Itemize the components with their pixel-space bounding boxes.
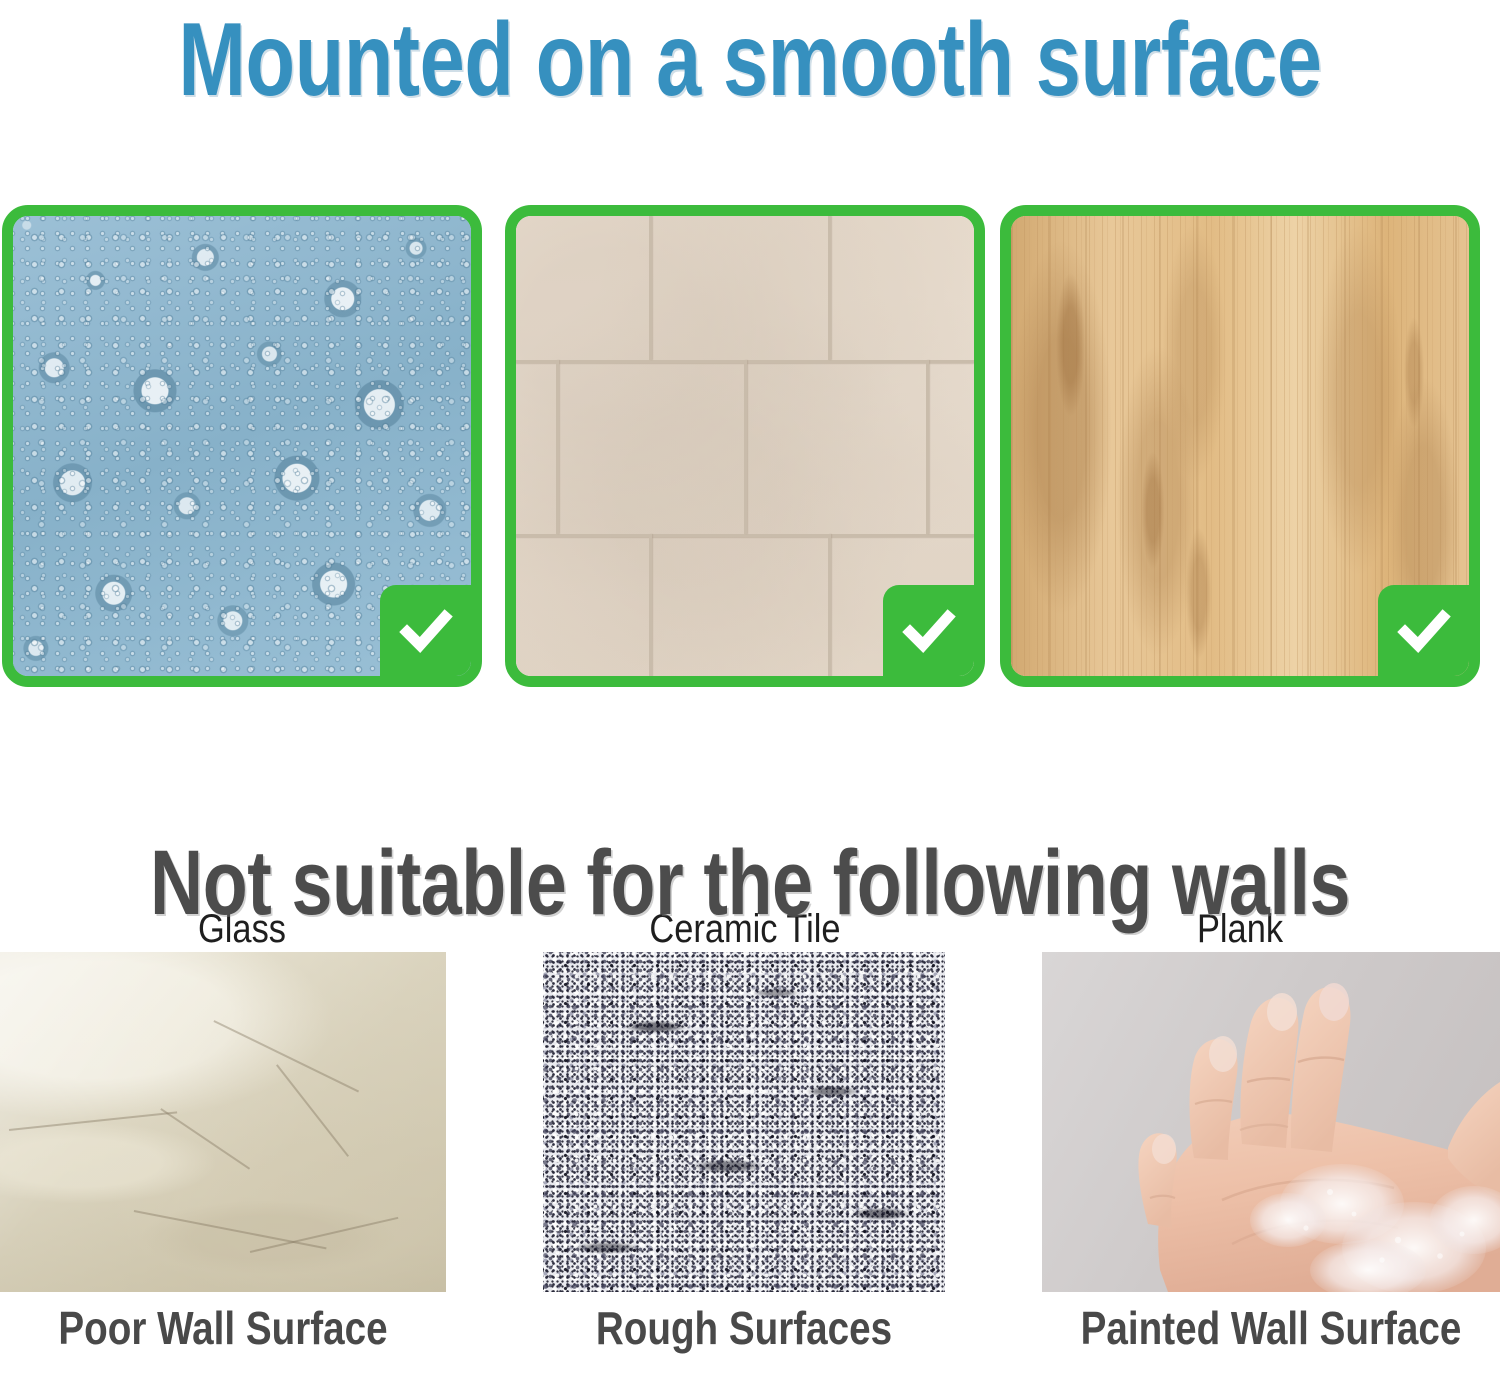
suitable-surfaces-row: Glass Ceramic Tile Plank [0,205,1500,695]
unsuitable-surface-card-painted-wall: Painted Wall Surface [1042,952,1500,1292]
unsuitable-surface-label-rough: Rough Surfaces [575,1300,913,1356]
unsuitable-heading: Not suitable for the following walls [150,838,1350,928]
tile-grout-line-vertical [828,216,831,360]
approved-check-badge [380,585,472,677]
approved-panel-border [505,205,985,687]
tile-grout-line-vertical [649,216,652,360]
photo-rough-surface [543,952,945,1292]
unsuitable-surface-label-painted-wall: Painted Wall Surface [1079,1300,1464,1356]
fingernail [1152,1134,1176,1164]
approved-panel-border [2,205,482,687]
paint-powder-residue [1250,1193,1326,1247]
fingernail [1267,993,1297,1031]
photo-poor-wall-surface [0,952,446,1292]
suitable-surface-card-glass [2,205,482,687]
approved-panel-border [1000,205,1480,687]
cracked-plaster-texture [0,952,446,1292]
fingernail [1209,1036,1237,1072]
suitable-surface-card-ceramic-tile [505,205,985,687]
approved-check-badge [883,585,975,677]
unsuitable-surfaces-row: Poor Wall Surface Rough Surfaces [0,952,1500,1382]
fingernail [1319,983,1349,1021]
approved-check-badge [1378,585,1470,677]
suitable-heading: Mounted on a smooth surface [165,2,1335,117]
tile-grout-line-horizontal [516,534,974,537]
tile-grout-line-vertical [556,360,559,534]
hand-illustration [1042,952,1500,1292]
tile-grout-line-vertical [926,360,929,534]
unsuitable-surface-card-rough: Rough Surfaces [543,952,945,1292]
tile-grout-line-vertical [649,534,652,676]
speckled-concrete-texture [543,952,945,1292]
unsuitable-surface-card-poor-wall: Poor Wall Surface [0,952,446,1292]
infographic-page: Mounted on a smooth surface [0,0,1500,1382]
tile-grout-line-vertical [744,360,747,534]
tile-grout-line-vertical [828,534,831,676]
suitable-surface-card-plank [1000,205,1480,687]
unsuitable-surface-label-poor-wall: Poor Wall Surface [36,1300,411,1356]
photo-painted-wall-surface [1042,952,1500,1292]
